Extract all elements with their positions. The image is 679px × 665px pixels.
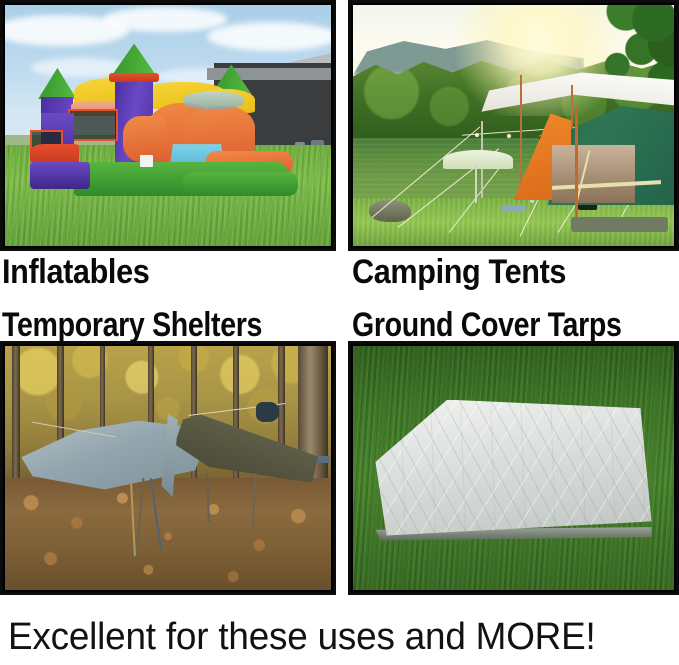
inflatable-bounce-house-photo	[5, 5, 331, 246]
photo-panel-ground-cover-tarps	[348, 341, 679, 595]
campsite-tent-photo	[353, 5, 674, 246]
caption-camping-tents: Camping Tents	[352, 255, 566, 289]
tagline-text: Excellent for these uses and MORE!	[8, 618, 596, 656]
tarp-shelter-autumn-woods-photo	[5, 346, 331, 590]
caption-inflatables: Inflatables	[2, 255, 149, 289]
caption-temporary-shelters: Temporary Shelters	[2, 308, 262, 342]
flat-ground-tarp-photo	[353, 346, 674, 590]
photo-panel-inflatables	[0, 0, 336, 251]
caption-ground-cover-tarps: Ground Cover Tarps	[352, 308, 622, 342]
photo-panel-camping-tents	[348, 0, 679, 251]
promo-graphic: Inflatables Camping Tents Temporary Shel…	[0, 0, 679, 665]
photo-panel-temporary-shelters	[0, 341, 336, 595]
